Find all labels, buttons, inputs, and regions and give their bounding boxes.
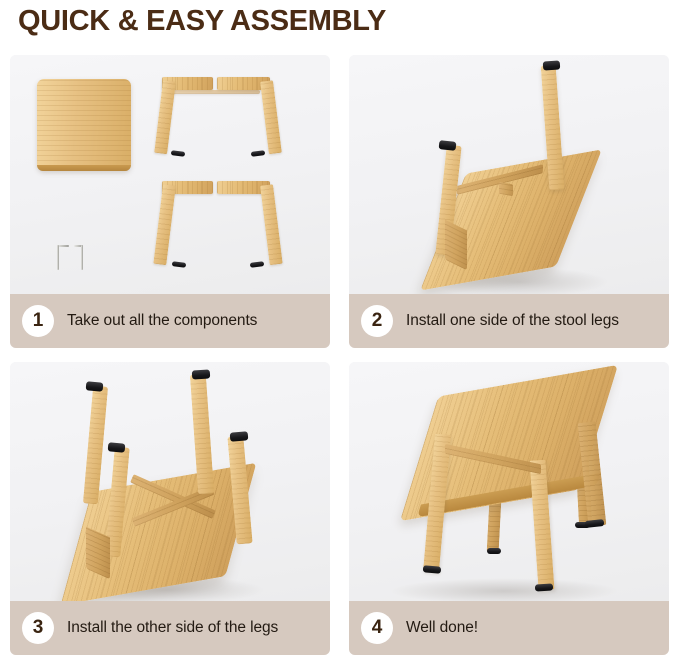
leg-front-right-cap (230, 431, 249, 442)
step-card-1: Bamboo stool parts laid out flat: square… (10, 55, 330, 348)
step-1-caption-bar: 1 Take out all the components (10, 294, 330, 348)
step-1-caption-text: Take out all the components (67, 312, 257, 330)
step-3-caption-text: Install the other side of the legs (67, 619, 278, 637)
step-3-photo: Upside down stool with all four legs att… (10, 362, 330, 601)
leg-back-left (83, 386, 108, 505)
page-title: QUICK & EASY ASSEMBLY (18, 1, 386, 41)
leg-frame-b (160, 179, 280, 281)
step-card-3: Upside down stool with all four legs att… (10, 362, 330, 655)
leg-frame-a-leg-left (154, 80, 176, 154)
step-card-4: Finished bamboo stool standing upright o… (349, 362, 669, 655)
leg-frame-b-foot-right (250, 261, 265, 268)
steps-grid: Bamboo stool parts laid out flat: square… (10, 55, 669, 655)
seat-top-part (37, 79, 131, 171)
step-3-badge: 3 (22, 612, 54, 644)
step-4-badge: 4 (361, 612, 393, 644)
leg-frame-a-leg-right (260, 80, 282, 154)
step-3-image-alt: Upside down stool with all four legs att… (10, 362, 11, 363)
step-2-badge: 2 (361, 305, 393, 337)
step-4-photo: Finished bamboo stool standing upright o… (349, 362, 669, 601)
hex-wrench-1-shaft (57, 245, 59, 270)
stool-leg-back-left-cap (487, 548, 501, 554)
leg-frame-a-foot-right (251, 150, 266, 157)
apron-tenon (499, 182, 513, 196)
step-2-image-alt: Seat top upside down with one pair of le… (349, 55, 350, 56)
leg-front-left-cap (108, 442, 126, 452)
leg-left-foot-cap (439, 140, 457, 151)
step-2-caption-text: Install one side of the stool legs (406, 312, 619, 330)
assembly-instruction-page: QUICK & EASY ASSEMBLY Bamboo stool parts… (0, 0, 679, 662)
step-4-floor-shadow (389, 578, 619, 601)
step-4-image-alt: Finished bamboo stool standing upright o… (349, 362, 350, 363)
leg-frame-b-leg-right (260, 184, 283, 265)
hex-wrench-2-shaft (81, 245, 83, 270)
leg-right-foot-cap (543, 60, 561, 70)
leg-frame-a-foot-left (171, 150, 186, 157)
step-2-caption-bar: 2 Install one side of the stool legs (349, 294, 669, 348)
leg-frame-b-foot-left (172, 261, 187, 268)
leg-frame-a (160, 75, 280, 170)
seat-top-edge (37, 165, 131, 171)
stool-leg-front-left-cap (423, 565, 442, 574)
step-4-caption-bar: 4 Well done! (349, 601, 669, 655)
step-card-2: Seat top upside down with one pair of le… (349, 55, 669, 348)
step-1-image-alt: Bamboo stool parts laid out flat: square… (10, 55, 11, 56)
step-3-caption-bar: 3 Install the other side of the legs (10, 601, 330, 655)
leg-back-left-cap (86, 381, 104, 391)
stool-leg-front-right-cap (535, 583, 553, 591)
leg-back-right-cap (192, 369, 211, 379)
step-1-photo: Bamboo stool parts laid out flat: square… (10, 55, 330, 294)
leg-frame-b-leg-left (153, 184, 176, 265)
leg-frame-a-apron (172, 90, 260, 94)
step-4-caption-text: Well done! (406, 619, 478, 637)
step-2-photo: Seat top upside down with one pair of le… (349, 55, 669, 294)
step-1-badge: 1 (22, 305, 54, 337)
stool-leg-side-right-cap (585, 519, 605, 528)
